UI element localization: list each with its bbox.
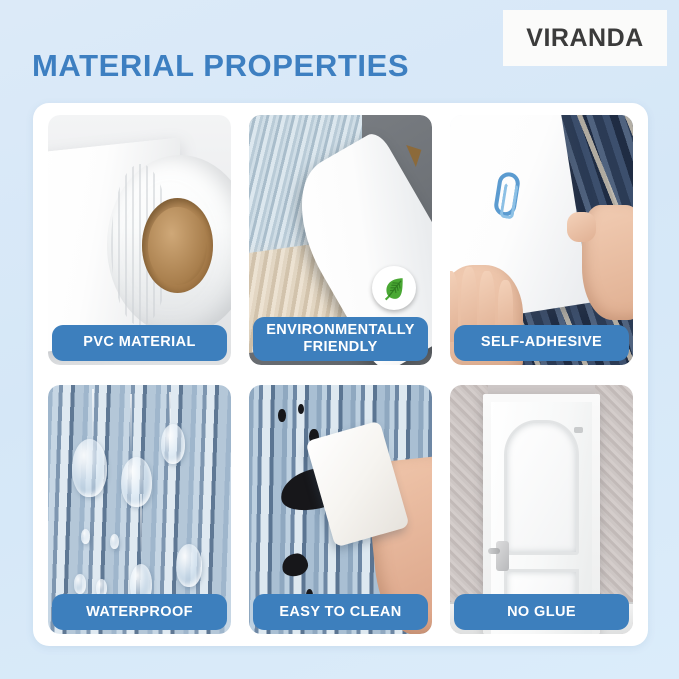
feature-card-environmentally-friendly[interactable]: ENVIRONMENTALLY FRIENDLY [249,115,432,365]
water-droplet [110,534,119,549]
feature-card-easy-to-clean[interactable]: EASY TO CLEAN [249,385,432,635]
droplet-trail [92,389,94,444]
feature-card-pvc-material[interactable]: PVC MATERIAL [48,115,231,365]
feature-label-no-glue: NO GLUE [454,594,629,630]
feature-card-no-glue[interactable]: NO GLUE [450,385,633,635]
door-panel-upper [504,420,579,555]
door-hinge [574,427,583,433]
door-handle [496,541,509,571]
brand-name: VIRANDA [526,24,643,53]
feature-panel: PVC MATERIAL [33,103,648,646]
paperclip-icon [492,171,521,218]
pvc-roll-shape [107,155,231,335]
right-hand [582,205,633,320]
finger [567,212,596,242]
feature-label-waterproof: WATERPROOF [52,594,227,630]
feature-card-waterproof[interactable]: WATERPROOF [48,385,231,635]
feature-label-environmentally-friendly: ENVIRONMENTALLY FRIENDLY [253,317,428,361]
green-leaf-icon [372,266,416,310]
page-title: MATERIAL PROPERTIES [32,48,409,84]
stain-spot [278,409,285,421]
peeled-sheet-corner [401,145,422,167]
feature-label-easy-to-clean: EASY TO CLEAN [253,594,428,630]
feature-grid: PVC MATERIAL [48,115,633,634]
brand-logo: VIRANDA [503,10,667,66]
stain-spot [280,552,310,579]
infographic-stage: VIRANDA MATERIAL PROPERTIES PVC MATERIAL [0,0,679,679]
water-droplet [121,457,152,507]
droplet-trail [130,394,132,454]
feature-label-pvc-material: PVC MATERIAL [52,325,227,361]
water-droplet [161,424,185,464]
water-droplet [176,544,202,586]
pvc-cardboard-core [142,198,214,293]
water-droplet [74,574,87,594]
water-droplet [81,529,90,544]
water-droplet [72,439,107,496]
feature-label-self-adhesive: SELF-ADHESIVE [454,325,629,361]
feature-card-self-adhesive[interactable]: SELF-ADHESIVE [450,115,633,365]
stain-spot [298,404,303,414]
cleaning-cloth [305,421,409,548]
